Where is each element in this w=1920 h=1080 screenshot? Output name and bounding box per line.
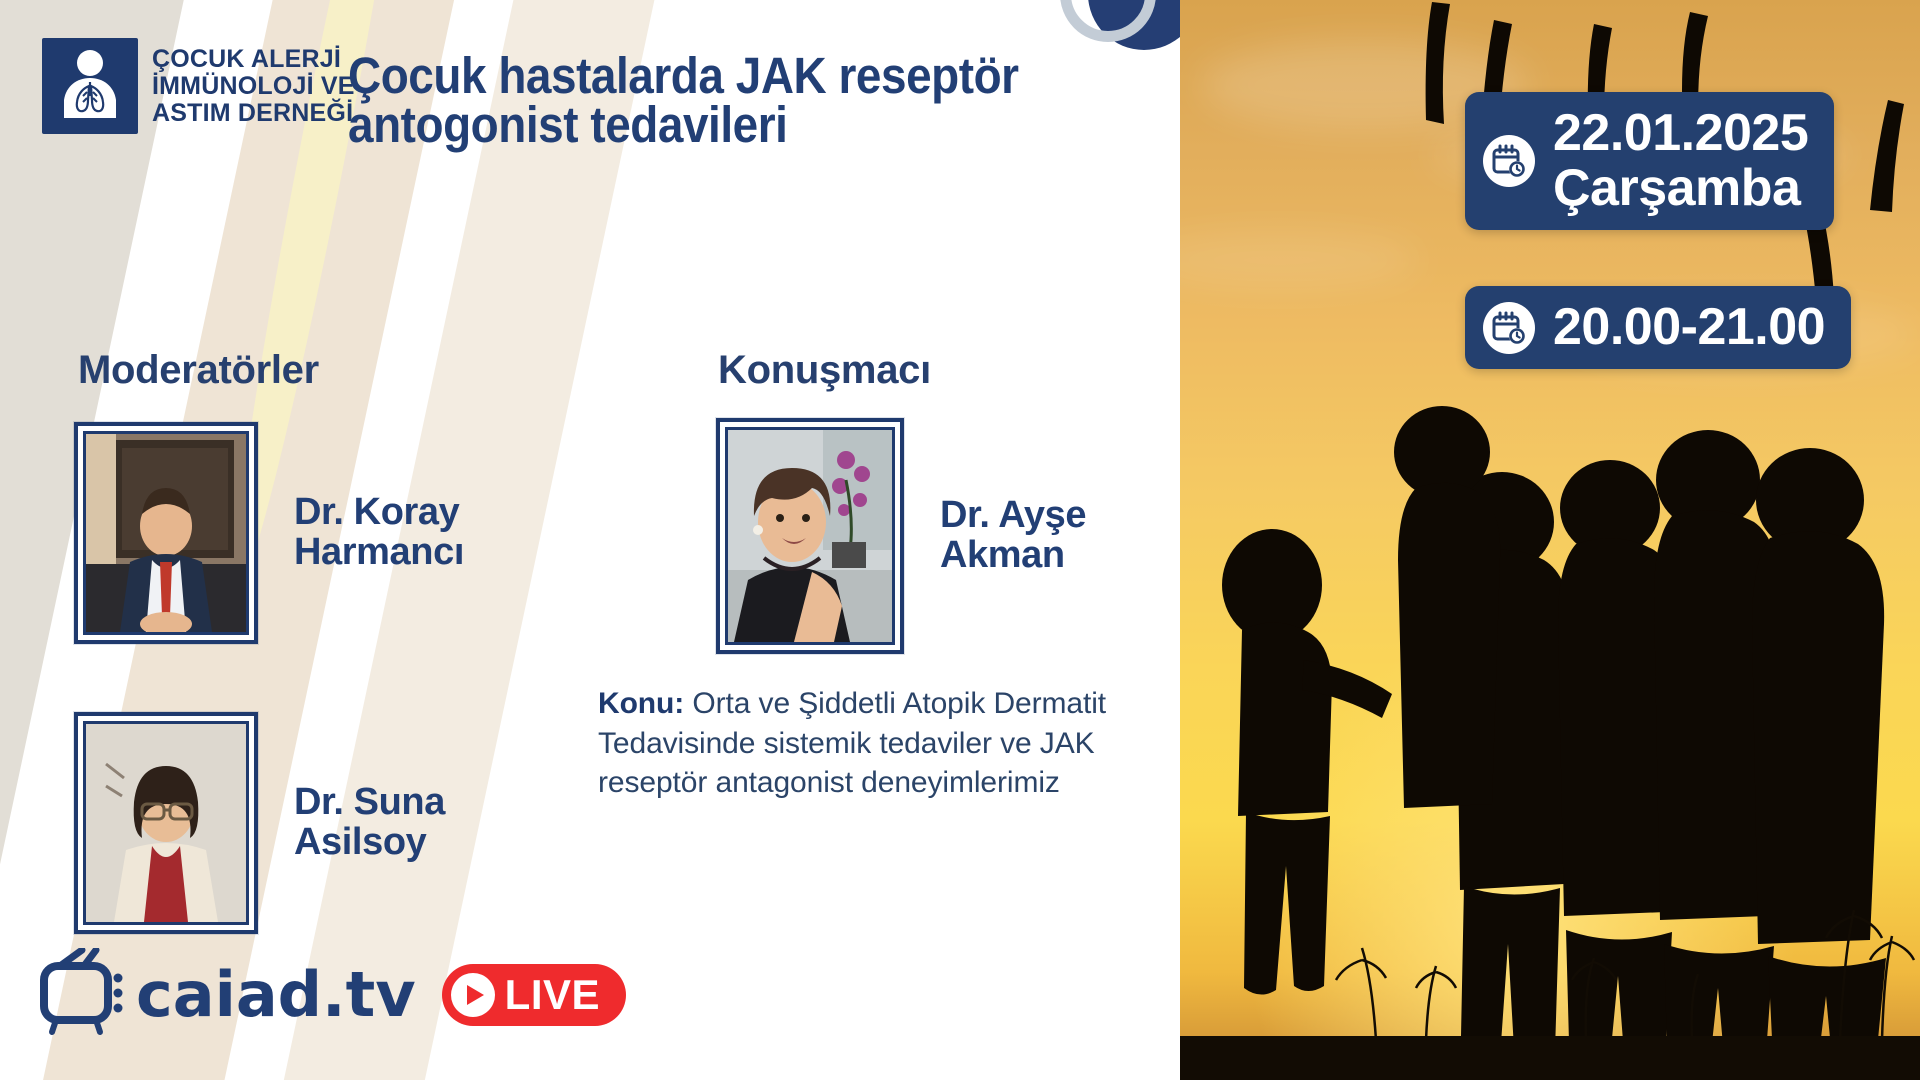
portrait-frame-inner: [83, 721, 249, 925]
moderator-card: Dr. Koray Harmancı: [74, 422, 464, 644]
avatar: [86, 434, 246, 632]
moderators-heading: Moderatörler: [78, 348, 319, 393]
portrait-frame: [716, 418, 904, 654]
time-text: 20.00-21.00: [1553, 300, 1825, 355]
moderator-name-line-1: Dr. Suna: [294, 783, 445, 823]
brand-name: caiad.tv: [136, 958, 416, 1031]
speaker-name: Dr. Ayşe Akman: [940, 496, 1086, 576]
speaker-name-line-1: Dr. Ayşe: [940, 496, 1086, 536]
org-name-line-3: ASTIM DERNEĞİ: [152, 100, 355, 127]
title-line-1: Çocuk hastalarda JAK reseptör: [348, 52, 1086, 101]
portrait-frame: [74, 712, 258, 934]
date-badge: 22.01.2025 Çarşamba: [1465, 92, 1834, 230]
television-icon: [38, 948, 134, 1041]
date-line-1: 22.01.2025: [1553, 106, 1808, 161]
organization-name: ÇOCUK ALERJİ İMMÜNOLOJİ VE ASTIM DERNEĞİ: [152, 46, 355, 127]
org-name-line-1: ÇOCUK ALERJİ: [152, 46, 355, 73]
lungs-person-icon: [42, 38, 138, 134]
portrait-frame-inner: [725, 427, 895, 645]
date-line-2: Çarşamba: [1553, 161, 1808, 216]
moderator-name: Dr. Suna Asilsoy: [294, 783, 445, 863]
moderator-name-line-2: Asilsoy: [294, 823, 445, 863]
speaker-heading: Konuşmacı: [718, 348, 931, 393]
avatar: [86, 724, 246, 922]
topic-block: Konu: Orta ve Şiddetli Atopik Dermatit T…: [598, 684, 1198, 803]
portrait-frame: [74, 422, 258, 644]
moderator-name: Dr. Koray Harmancı: [294, 493, 464, 573]
moderator-name-line-2: Harmancı: [294, 533, 464, 573]
portrait-frame-inner: [83, 431, 249, 635]
brand-logo[interactable]: caiad.tv: [38, 948, 416, 1041]
play-icon: [451, 973, 495, 1017]
moderator-name-line-1: Dr. Koray: [294, 493, 464, 533]
date-text: 22.01.2025 Çarşamba: [1553, 106, 1808, 216]
page-title: Çocuk hastalarda JAK reseptör antogonist…: [348, 52, 1086, 150]
live-label: LIVE: [505, 971, 600, 1019]
calendar-clock-icon: [1483, 302, 1535, 354]
title-line-2: antogonist tedavileri: [348, 101, 1086, 150]
organization-logo: ÇOCUK ALERJİ İMMÜNOLOJİ VE ASTIM DERNEĞİ: [42, 38, 355, 134]
speaker-name-line-2: Akman: [940, 536, 1086, 576]
calendar-clock-icon: [1483, 135, 1535, 187]
webinar-poster: ÇOCUK ALERJİ İMMÜNOLOJİ VE ASTIM DERNEĞİ…: [0, 0, 1920, 1080]
org-name-line-2: İMMÜNOLOJİ VE: [152, 73, 355, 100]
footer-brand-bar: caiad.tv LIVE: [38, 948, 626, 1041]
topic-label: Konu:: [598, 687, 684, 720]
live-badge[interactable]: LIVE: [442, 964, 626, 1026]
speaker-card: Dr. Ayşe Akman: [716, 418, 1086, 654]
time-badge: 20.00-21.00: [1465, 286, 1851, 369]
moderator-card: Dr. Suna Asilsoy: [74, 712, 445, 934]
avatar: [728, 430, 892, 642]
